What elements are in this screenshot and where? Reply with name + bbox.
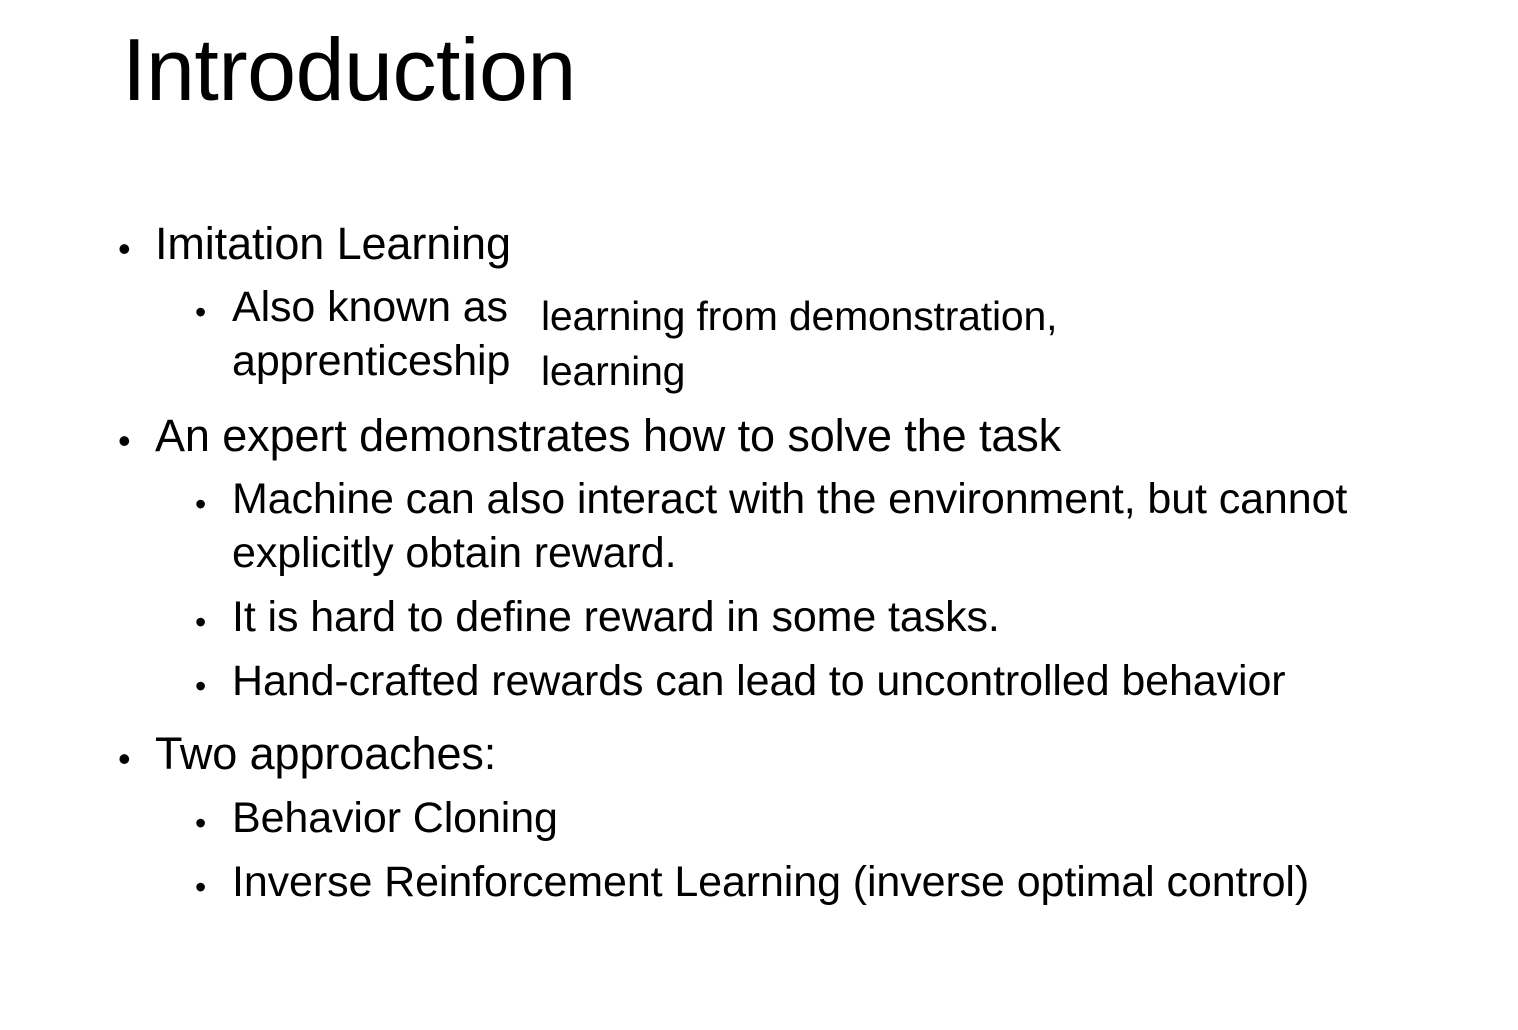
bullet-text-imitation-learning: Imitation Learning (155, 217, 1458, 272)
bullet-item-two-approaches: • Two approaches: (118, 727, 1458, 782)
slide-body-placeholder: • Imitation Learning • Also known as app… (0, 0, 1518, 1030)
bullet-text-also-known-as-line1: Also known as (232, 283, 508, 331)
bullet-item-inverse-reinforcement-learning: • Inverse Reinforcement Learning (invers… (195, 856, 1465, 910)
bullet-dot-icon: • (195, 856, 232, 903)
bullet-text-behavior-cloning: Behavior Cloning (232, 792, 1465, 846)
overlay-text-line-1: learning from demonstration, (541, 290, 1181, 343)
bullet-text-expert-demonstrates: An expert demonstrates how to solve the … (155, 409, 1458, 464)
bullet-item-hard-define-reward: • It is hard to define reward in some ta… (195, 591, 1465, 645)
bullet-item-imitation-learning: • Imitation Learning (118, 217, 1458, 272)
bullet-dot-icon: • (195, 792, 232, 839)
bullet-text-inverse-reinforcement-learning: Inverse Reinforcement Learning (inverse … (232, 856, 1465, 910)
bullet-dot-icon: • (195, 655, 232, 702)
bullet-item-machine-interact: • Machine can also interact with the env… (195, 473, 1465, 581)
bullet-dot-icon: • (195, 591, 232, 638)
bullet-text-machine-interact: Machine can also interact with the envir… (232, 473, 1465, 581)
bullet-text-apprenticeship-continuation: apprenticeship (232, 337, 510, 385)
bullet-dot-icon: • (118, 727, 155, 777)
bullet-item-expert-demonstrates: • An expert demonstrates how to solve th… (118, 409, 1458, 464)
bullet-item-behavior-cloning: • Behavior Cloning (195, 792, 1465, 846)
slide-canvas: Introduction • Imitation Learning • Also… (0, 0, 1518, 1030)
bullet-dot-icon: • (118, 217, 155, 267)
bullet-dot-icon: • (195, 281, 232, 328)
bullet-text-hard-define-reward: It is hard to define reward in some task… (232, 591, 1465, 645)
bullet-dot-icon: • (195, 473, 232, 520)
overlay-text-line-2: learning (541, 345, 1181, 398)
bullet-dot-icon: • (118, 409, 155, 459)
bullet-item-hand-crafted-rewards: • Hand-crafted rewards can lead to uncon… (195, 655, 1465, 709)
bullet-text-hand-crafted-rewards: Hand-crafted rewards can lead to uncontr… (232, 655, 1465, 709)
overlay-text-box: learning from demonstration, learning (541, 290, 1181, 399)
bullet-text-two-approaches: Two approaches: (155, 727, 1458, 782)
